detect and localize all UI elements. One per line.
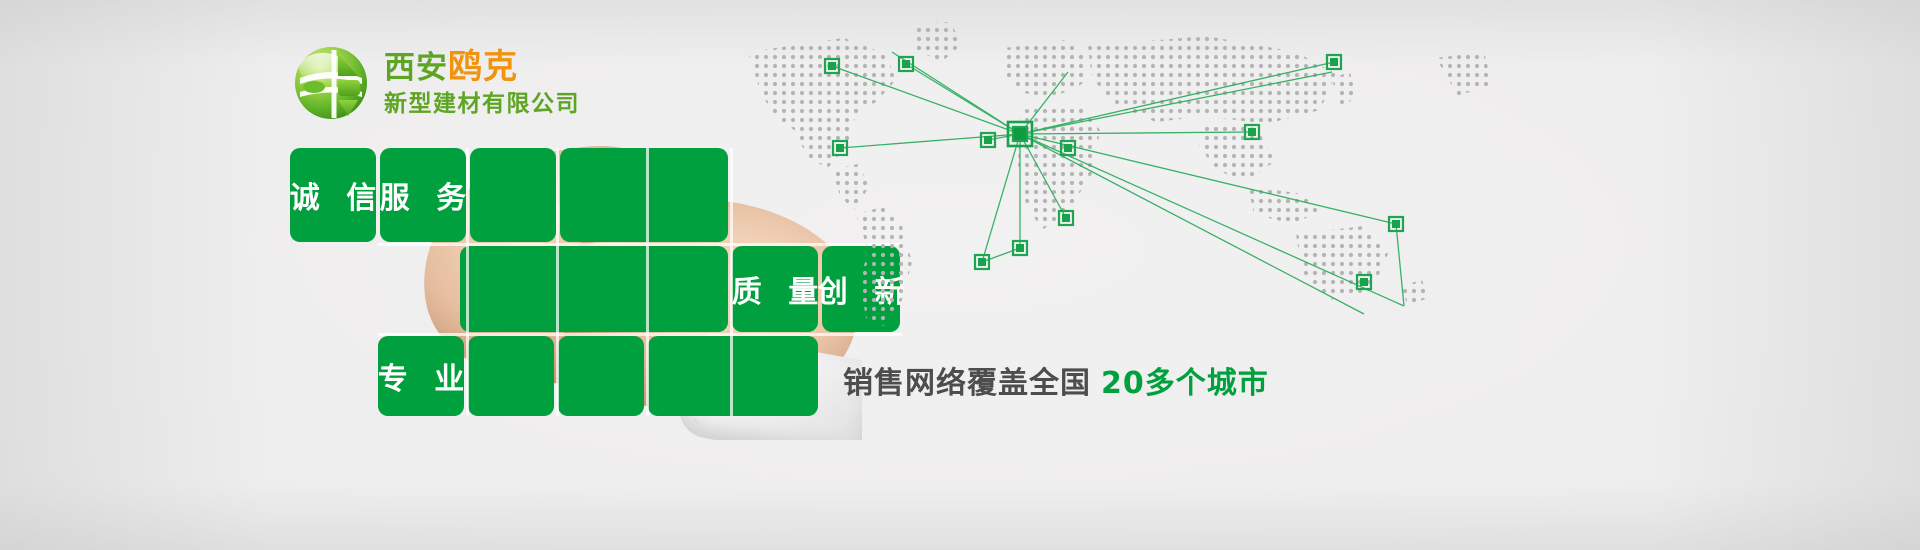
tile-integrity[interactable]: 诚 信 bbox=[290, 148, 376, 242]
tile-integrity-label: 诚 信 bbox=[282, 173, 384, 217]
network-tagline: 销售网络覆盖全国20多个城市 bbox=[843, 358, 1269, 402]
tile-blank-r2c3[interactable] bbox=[460, 246, 728, 332]
tile-blank-r3c5[interactable] bbox=[648, 336, 818, 416]
tagline-lead: 销售网络覆盖全国 bbox=[843, 366, 1091, 401]
grid-line-vertical bbox=[556, 148, 559, 416]
tile-professional-label: 专 业 bbox=[370, 354, 472, 398]
grid-line-vertical bbox=[646, 148, 649, 416]
tile-service-label: 服 务 bbox=[372, 173, 474, 217]
logo-line-primary: 西安鸥克 bbox=[384, 50, 580, 84]
tile-blank-r3c4[interactable] bbox=[558, 336, 644, 416]
logo-brand: 鸥克 bbox=[448, 47, 518, 87]
promo-banner: 西安鸥克 新型建材有限公司 诚 信 服 务 质 量 创 bbox=[0, 0, 1920, 550]
green-globe-leaf-logo-icon bbox=[292, 44, 370, 122]
logo-subtitle: 新型建材有限公司 bbox=[384, 93, 580, 116]
tile-professional[interactable]: 专 业 bbox=[378, 336, 464, 416]
tile-service[interactable]: 服 务 bbox=[380, 148, 466, 242]
grid-line-vertical bbox=[466, 148, 469, 416]
logo-city: 西安 bbox=[384, 50, 448, 86]
logo-wordmark: 西安鸥克 新型建材有限公司 bbox=[384, 50, 580, 116]
tile-blank-r3c3[interactable] bbox=[468, 336, 554, 416]
dotted-world-map-icon bbox=[736, 18, 1496, 338]
grid-line-vertical bbox=[730, 148, 733, 416]
tile-blank-r1c3[interactable] bbox=[470, 148, 556, 242]
company-logo[interactable]: 西安鸥克 新型建材有限公司 bbox=[292, 44, 580, 122]
tagline-highlight: 20多个城市 bbox=[1101, 366, 1269, 401]
tile-blank-r1c4[interactable] bbox=[560, 148, 728, 242]
